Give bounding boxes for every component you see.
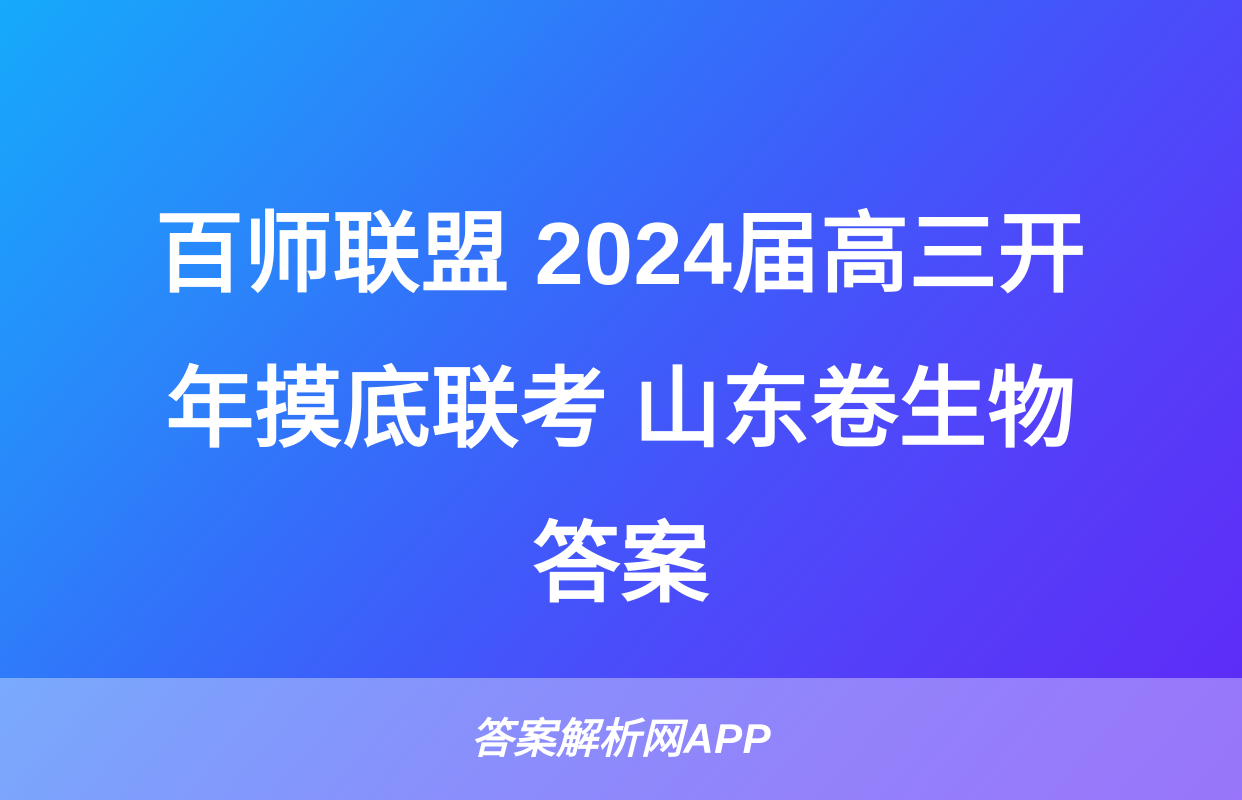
page-title: 百师联盟 2024届高三开 年摸底联考 山东卷生物 答案 — [0, 176, 1242, 641]
footer-band: 答案解析网APP — [0, 678, 1242, 800]
cover-page: 百师联盟 2024届高三开 年摸底联考 山东卷生物 答案 答案解析网APP — [0, 0, 1242, 800]
watermark: 答案解析网APP — [0, 678, 1242, 800]
watermark-label: 答案解析网APP — [471, 718, 771, 760]
